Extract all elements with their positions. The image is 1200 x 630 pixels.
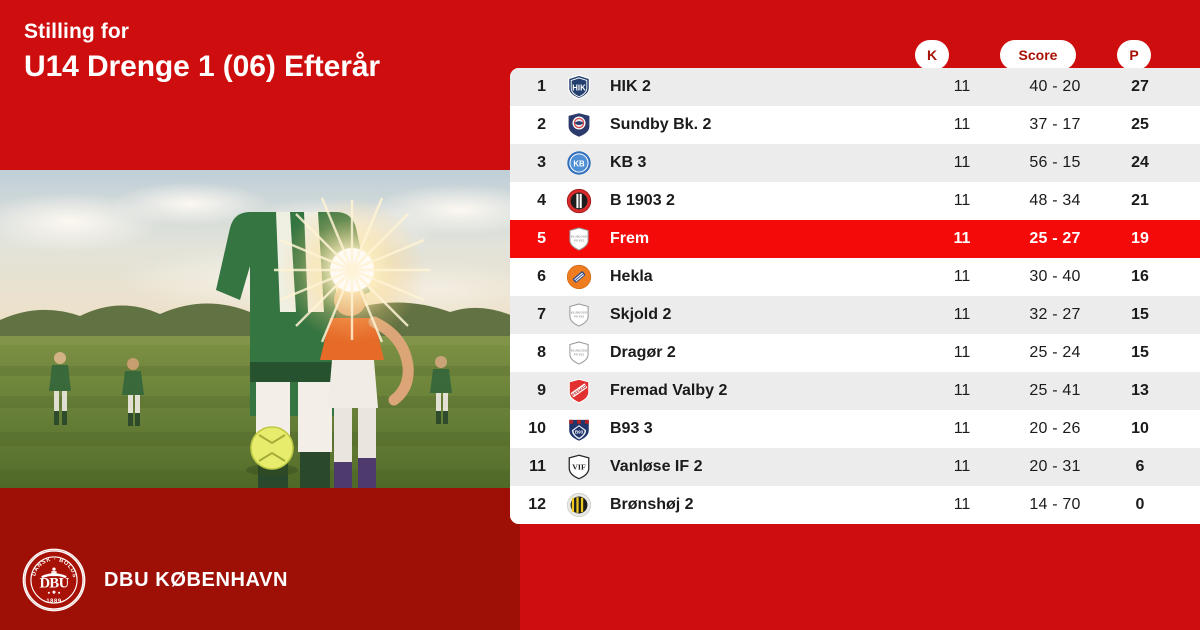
svg-text:PÅ VEJ: PÅ VEJ [574, 352, 585, 357]
row-team-name[interactable]: Vanløse IF 2 [602, 458, 924, 476]
row-rank: 6 [510, 268, 556, 286]
row-matches-played: 11 [924, 344, 1000, 362]
svg-text:KB: KB [573, 159, 585, 168]
club-crest-icon: KLUBLOGOPÅ VEJ [556, 226, 602, 252]
row-team-name[interactable]: Skjold 2 [602, 306, 924, 324]
row-matches-played: 11 [924, 154, 1000, 172]
column-header-k: K [915, 40, 949, 70]
row-rank: 9 [510, 382, 556, 400]
row-team-name[interactable]: B 1903 2 [602, 192, 924, 210]
club-crest-icon: HIK [556, 74, 602, 100]
row-rank: 3 [510, 154, 556, 172]
row-goal-score: 32 - 27 [1000, 306, 1110, 324]
row-team-name[interactable]: Hekla [602, 268, 924, 286]
row-matches-played: 11 [924, 496, 1000, 514]
row-points: 15 [1110, 344, 1170, 362]
table-row[interactable]: 8KLUBLOGOPÅ VEJDragør 21125 - 2415 [510, 334, 1200, 372]
svg-text:PÅ VEJ: PÅ VEJ [574, 314, 585, 319]
football-match-photo [0, 170, 513, 488]
row-points: 15 [1110, 306, 1170, 324]
brand-lockup: DANSK · BOLDSPIL · UNION DBU 1889 DBU KØ… [22, 548, 288, 612]
table-row[interactable]: 7KLUBLOGOPÅ VEJSkjold 21132 - 2715 [510, 296, 1200, 334]
club-crest-icon: B93 [556, 416, 602, 442]
row-rank: 11 [510, 458, 556, 476]
club-crest-icon: KLUBLOGOPÅ VEJ [556, 302, 602, 328]
row-matches-played: 11 [924, 458, 1000, 476]
row-points: 25 [1110, 116, 1170, 134]
row-matches-played: 11 [924, 116, 1000, 134]
club-crest-icon: KLUBLOGOPÅ VEJ [556, 340, 602, 366]
row-team-name[interactable]: Fremad Valby 2 [602, 382, 924, 400]
svg-text:B93: B93 [575, 430, 584, 435]
table-row[interactable]: 1HIKHIK 21140 - 2027 [510, 68, 1200, 106]
row-goal-score: 20 - 26 [1000, 420, 1110, 438]
row-matches-played: 11 [924, 230, 1000, 248]
row-goal-score: 48 - 34 [1000, 192, 1110, 210]
row-goal-score: 25 - 27 [1000, 230, 1110, 248]
row-goal-score: 40 - 20 [1000, 78, 1110, 96]
table-row[interactable]: 4B 1903 21148 - 3421 [510, 182, 1200, 220]
header-kicker: Stilling for [24, 20, 129, 44]
row-goal-score: 30 - 40 [1000, 268, 1110, 286]
dbu-logo-icon: DANSK · BOLDSPIL · UNION DBU 1889 [22, 548, 86, 612]
table-row[interactable]: 10B93B93 31120 - 2610 [510, 410, 1200, 448]
row-goal-score: 56 - 15 [1000, 154, 1110, 172]
table-row[interactable]: 9FREMADFremad Valby 21125 - 4113 [510, 372, 1200, 410]
club-crest-icon [556, 112, 602, 138]
row-points: 0 [1110, 496, 1170, 514]
row-points: 19 [1110, 230, 1170, 248]
row-team-name[interactable]: Sundby Bk. 2 [602, 116, 924, 134]
row-rank: 2 [510, 116, 556, 134]
row-matches-played: 11 [924, 78, 1000, 96]
table-row[interactable]: 12Brønshøj 21114 - 700 [510, 486, 1200, 524]
column-header-p: P [1117, 40, 1151, 70]
row-matches-played: 11 [924, 420, 1000, 438]
row-points: 16 [1110, 268, 1170, 286]
row-rank: 10 [510, 420, 556, 438]
row-team-name[interactable]: B93 3 [602, 420, 924, 438]
svg-text:HIK: HIK [572, 83, 586, 92]
row-matches-played: 11 [924, 268, 1000, 286]
svg-text:VIF: VIF [572, 463, 586, 472]
row-rank: 4 [510, 192, 556, 210]
svg-text:DBU: DBU [39, 576, 69, 592]
club-crest-icon: KB [556, 150, 602, 176]
row-team-name[interactable]: KB 3 [602, 154, 924, 172]
table-row[interactable]: 6Hekla1130 - 4016 [510, 258, 1200, 296]
club-crest-icon: FREMAD [556, 378, 602, 404]
row-rank: 1 [510, 78, 556, 96]
row-matches-played: 11 [924, 382, 1000, 400]
table-row[interactable]: 5KLUBLOGOPÅ VEJFrem1125 - 2719 [510, 220, 1200, 258]
club-crest-icon [556, 264, 602, 290]
row-rank: 7 [510, 306, 556, 324]
standings-table: 1HIKHIK 21140 - 20272Sundby Bk. 21137 - … [510, 68, 1200, 524]
row-matches-played: 11 [924, 192, 1000, 210]
brand-name: DBU KØBENHAVN [104, 569, 288, 592]
column-header-score: Score [1000, 40, 1076, 70]
row-goal-score: 14 - 70 [1000, 496, 1110, 514]
row-team-name[interactable]: Brønshøj 2 [602, 496, 924, 514]
row-points: 24 [1110, 154, 1170, 172]
table-row[interactable]: 3KBKB 31156 - 1524 [510, 144, 1200, 182]
row-rank: 12 [510, 496, 556, 514]
row-points: 13 [1110, 382, 1170, 400]
svg-text:1889: 1889 [46, 598, 61, 604]
row-goal-score: 25 - 41 [1000, 382, 1110, 400]
club-crest-icon [556, 492, 602, 518]
table-row[interactable]: 2Sundby Bk. 21137 - 1725 [510, 106, 1200, 144]
row-goal-score: 20 - 31 [1000, 458, 1110, 476]
row-matches-played: 11 [924, 306, 1000, 324]
row-goal-score: 37 - 17 [1000, 116, 1110, 134]
row-team-name[interactable]: Dragør 2 [602, 344, 924, 362]
row-points: 27 [1110, 78, 1170, 96]
page-title: U14 Drenge 1 (06) Efterår [24, 50, 494, 85]
row-team-name[interactable]: HIK 2 [602, 78, 924, 96]
row-points: 6 [1110, 458, 1170, 476]
promo-graphic: Stilling for U14 Drenge 1 (06) Efterår [0, 0, 1200, 630]
table-row[interactable]: 11VIFVanløse IF 21120 - 316 [510, 448, 1200, 486]
left-column: Stilling for U14 Drenge 1 (06) Efterår [0, 0, 520, 630]
club-crest-icon: VIF [556, 454, 602, 480]
club-crest-icon [556, 188, 602, 214]
row-points: 21 [1110, 192, 1170, 210]
header-block: Stilling for U14 Drenge 1 (06) Efterår [0, 0, 520, 170]
row-rank: 5 [510, 230, 556, 248]
row-goal-score: 25 - 24 [1000, 344, 1110, 362]
row-team-name[interactable]: Frem [602, 230, 924, 248]
row-points: 10 [1110, 420, 1170, 438]
row-rank: 8 [510, 344, 556, 362]
table-column-headers: K Score P [510, 40, 1200, 70]
svg-text:PÅ VEJ: PÅ VEJ [574, 238, 585, 243]
